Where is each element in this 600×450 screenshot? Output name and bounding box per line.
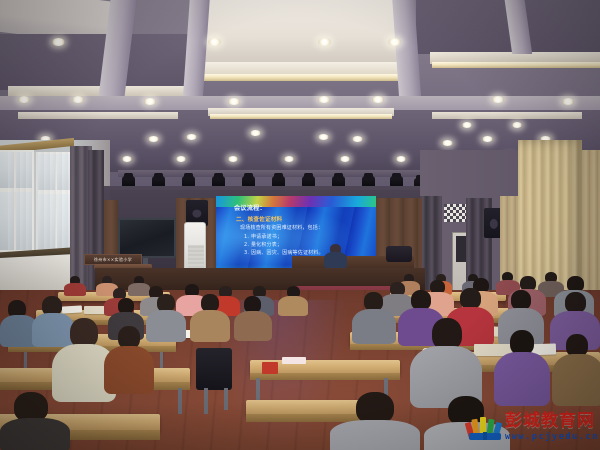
downlight (318, 134, 329, 140)
sheer-curtain (8, 152, 70, 250)
downlight (144, 98, 156, 105)
wall-checker-panel (444, 204, 466, 222)
downlight (228, 156, 238, 162)
downlight (176, 156, 186, 162)
downlight (18, 96, 30, 103)
desk-leg (178, 388, 182, 414)
aircon-grille-icon (188, 245, 204, 269)
downlight (72, 96, 84, 103)
wall-monitor (118, 218, 176, 258)
downlight (52, 38, 65, 46)
downlight (148, 136, 159, 142)
desk-sticker (282, 357, 306, 364)
conference-hall-photo: 会议流程： 二、核查佐证材料 现场核查所有资困难证材料，包括： 1. 申请承诺书… (0, 0, 600, 450)
stage-chair (386, 246, 412, 262)
book-base (469, 433, 501, 440)
downlight (442, 140, 453, 146)
downlight (462, 122, 472, 128)
slide-lead-text: 现场核查所有资困难证材料，包括： (240, 226, 323, 231)
attendee (190, 294, 230, 340)
chair-leg (224, 388, 228, 410)
rainbow-book-logo-icon (468, 414, 502, 440)
presenter (322, 244, 348, 266)
downlight (318, 96, 330, 103)
watermark-brand: 彭城教育网 (505, 413, 599, 430)
empty-chair[interactable] (196, 348, 232, 390)
presenter-body (324, 252, 347, 268)
downlight (284, 156, 294, 162)
downlight (186, 134, 197, 140)
downlight (482, 136, 493, 142)
downlight (340, 156, 350, 162)
attendee (494, 330, 550, 404)
downlight (492, 96, 504, 103)
desk-leg (24, 352, 27, 368)
downlight (388, 38, 401, 46)
slide-item-1: 1. 申请承诺书； (244, 235, 282, 240)
downlight (208, 38, 221, 46)
downlight (352, 136, 363, 142)
red-sticker (262, 362, 278, 374)
attendee (330, 392, 420, 450)
attendee (0, 392, 70, 450)
wall-plaque-text: 徐州市××实验小学 (94, 257, 132, 263)
downlight (318, 38, 331, 46)
attendee (410, 318, 482, 406)
downlight (228, 98, 240, 105)
desk-leg (256, 378, 260, 402)
slide-title: 会议流程： (234, 206, 266, 213)
watermark-url: www.pcjyedu.cn (505, 432, 599, 442)
chair-leg (204, 388, 208, 414)
floor-air-conditioner (184, 222, 206, 274)
desk-edge-d2 (250, 373, 400, 380)
attendee (104, 326, 154, 392)
downlight (250, 130, 261, 136)
downlight (122, 156, 132, 162)
downlight (562, 98, 574, 105)
slide-item-2: 2. 量化积分表； (244, 243, 282, 248)
downlight (396, 156, 406, 162)
attendee (64, 276, 86, 294)
attendee (234, 296, 272, 340)
watermark: 彭城教育网 www.pcjyedu.cn (468, 409, 596, 445)
attendee (352, 292, 396, 342)
slide-section-heading: 二、核查佐证材料 (236, 217, 282, 223)
desk-leg (160, 352, 163, 368)
attendee (278, 286, 308, 314)
downlight (372, 96, 384, 103)
downlight (512, 122, 522, 128)
attendee (552, 334, 600, 404)
